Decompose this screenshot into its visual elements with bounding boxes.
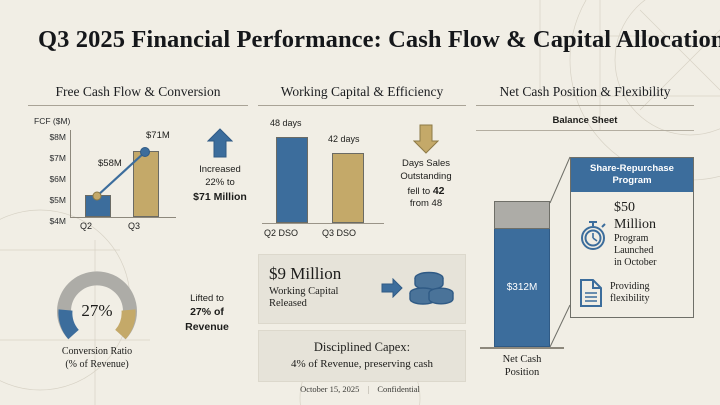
capex-subtitle: 4% of Revenue, preserving cash [267, 358, 457, 370]
program-sub2: Launched [614, 245, 653, 256]
net-cash-caption-line2: Position [505, 367, 539, 378]
fcf-value-q2: $58M [98, 158, 122, 169]
conversion-caption-line1: Conversion Ratio [62, 346, 132, 357]
share-repurchase-title-line1: Share-Repurchase [590, 163, 674, 174]
column-net-cash: Net Cash Position & Flexibility Balance … [476, 84, 694, 374]
capex-title: Disciplined Capex: [267, 340, 457, 355]
fcf-note-line2: 22% to [205, 177, 235, 188]
net-cash-bar-segment-blue: $312M [494, 229, 550, 347]
net-cash-baseline [480, 347, 564, 349]
program-amount-unit: Million [614, 217, 656, 232]
dso-bar-q2 [276, 137, 308, 223]
dso-xtick-q2: Q2 DSO [264, 228, 298, 238]
footer-separator: | [368, 384, 370, 394]
arrow-up-icon [207, 128, 233, 158]
dso-note-line1: Days Sales [402, 158, 450, 169]
document-icon [578, 278, 604, 308]
dso-note-line2: Outstanding [400, 171, 451, 182]
share-repurchase-title-line2: Program [612, 175, 651, 186]
conversion-caption-line2: (% of Revenue) [65, 359, 128, 370]
working-capital-card: $9 Million Working Capital Released [258, 254, 466, 324]
section-heading-working-capital: Working Capital & Efficiency [258, 84, 466, 106]
column-free-cash-flow: Free Cash Flow & Conversion FCF ($M) $8M… [28, 84, 248, 360]
fcf-axis-title: FCF ($M) [34, 116, 70, 126]
conversion-ratio-chart: 27% Conversion Ratio (% of Revenue) Lift… [28, 268, 248, 360]
net-cash-stacked-bar: $312M Net Cash Position [494, 201, 550, 347]
working-capital-amount: $9 Million [269, 265, 375, 284]
footer-date: October 15, 2025 [300, 384, 359, 394]
net-cash-caption-line1: Net Cash [503, 354, 542, 365]
fcf-trend-line [70, 130, 176, 218]
net-cash-bar-segment-gray [494, 201, 550, 229]
dso-xtick-q3: Q3 DSO [322, 228, 356, 238]
dso-plot-area [262, 126, 384, 224]
share-repurchase-callout: Share-Repurchase Program [570, 157, 694, 318]
fcf-chart: FCF ($M) $8M $7M $6M $5M $4M $58M $71M Q… [28, 116, 248, 256]
arrow-down-icon [413, 124, 439, 154]
stopwatch-icon [578, 219, 608, 251]
fcf-xtick-q3: Q3 [128, 221, 140, 231]
conversion-note-line1: Lifted to [190, 293, 224, 304]
dso-bar-q3 [332, 153, 364, 223]
capex-card: Disciplined Capex: 4% of Revenue, preser… [258, 330, 466, 382]
fcf-ytick-8m: $8M [32, 132, 66, 142]
conversion-caption: Conversion Ratio (% of Revenue) [34, 346, 160, 371]
conversion-note: Lifted to 27% of Revenue [168, 292, 246, 335]
working-capital-sub2: Released [269, 298, 307, 309]
fcf-callout: Increased 22% to $71 Million [186, 128, 254, 204]
working-capital-sub1: Working Capital [269, 286, 338, 297]
fcf-ytick-4m: $4M [32, 216, 66, 226]
flexibility-row: Providing flexibility [578, 278, 686, 308]
section-heading-fcf: Free Cash Flow & Conversion [28, 84, 248, 106]
flexibility-line2: flexibility [610, 293, 649, 304]
dso-callout: Days Sales Outstanding fell to 42 from 4… [386, 124, 466, 211]
balance-sheet-heading: Balance Sheet [476, 115, 694, 131]
dso-chart: 48 days 42 days Q2 DSO Q3 DSO Days Sales… [258, 118, 466, 248]
net-cash-caption: Net Cash Position [478, 353, 566, 379]
coins-icon [409, 269, 455, 307]
conversion-note-line3: Revenue [185, 321, 229, 333]
section-heading-net-cash: Net Cash Position & Flexibility [476, 84, 694, 106]
program-amount: $50 [614, 200, 635, 215]
flexibility-line1: Providing [610, 281, 649, 292]
fcf-ytick-7m: $7M [32, 153, 66, 163]
dso-note-bold: 42 [433, 185, 445, 197]
dso-note-line4: from 48 [410, 198, 442, 209]
footer: October 15, 2025 | Confidential [0, 384, 720, 394]
dso-note-line3: fell to [407, 186, 430, 197]
share-repurchase-title: Share-Repurchase Program [571, 158, 693, 192]
column-working-capital: Working Capital & Efficiency 48 days 42 … [258, 84, 466, 382]
fcf-xtick-q2: Q2 [80, 221, 92, 231]
net-cash-bar-value: $312M [507, 282, 538, 293]
program-sub1: Program [614, 233, 648, 244]
conversion-center-value: 27% [54, 268, 140, 354]
footer-classification: Confidential [377, 384, 420, 394]
slide: Q3 2025 Financial Performance: Cash Flow… [0, 0, 720, 405]
program-amount-row: $50 Million Program Launched in October [578, 200, 686, 270]
conversion-note-line2: 27% of [190, 306, 224, 318]
program-sub3: in October [614, 257, 657, 268]
fcf-ytick-6m: $6M [32, 174, 66, 184]
balance-sheet-body: $312M Net Cash Position Share-Repurchase… [476, 139, 694, 374]
arrow-right-icon [381, 278, 403, 298]
fcf-note-line1: Increased [199, 164, 241, 175]
dso-value-q2: 48 days [270, 118, 302, 128]
page-title: Q3 2025 Financial Performance: Cash Flow… [38, 26, 688, 54]
fcf-ytick-5m: $5M [32, 195, 66, 205]
fcf-note-line3: $71 Million [193, 191, 247, 203]
dso-value-q3: 42 days [328, 134, 360, 144]
fcf-value-q3: $71M [146, 130, 170, 141]
